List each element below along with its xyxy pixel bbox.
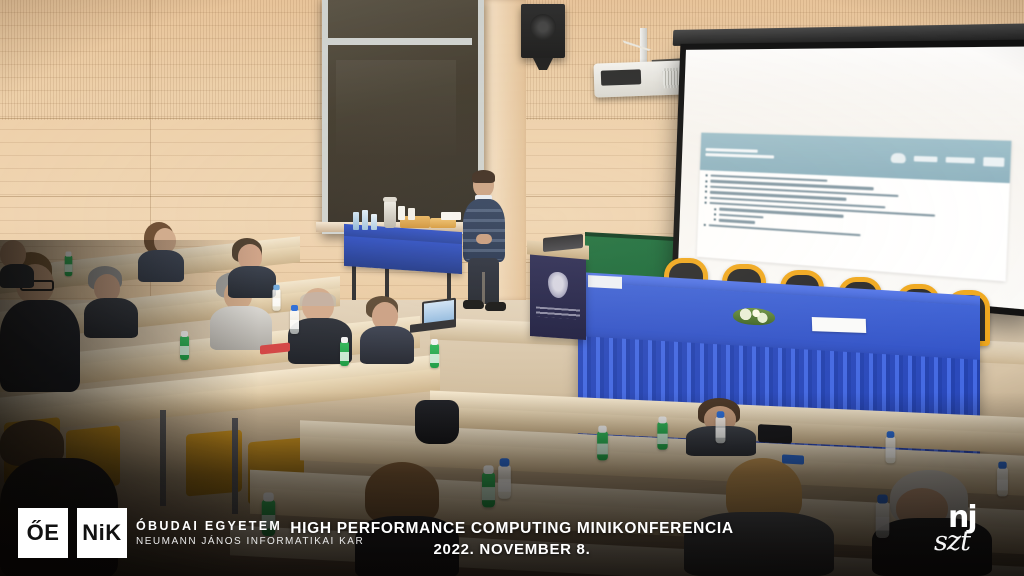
audience-torso <box>0 458 118 576</box>
audience-member <box>872 470 992 576</box>
water-bottle <box>498 465 511 499</box>
audience-member <box>228 238 278 294</box>
slide-title <box>705 147 774 158</box>
audience-torso <box>210 306 272 350</box>
slide-title-line <box>706 147 758 152</box>
sanitizer-bottle <box>657 422 667 450</box>
presenter-hair <box>472 170 495 183</box>
sanitizer-bottle <box>65 256 73 276</box>
audience-torso <box>872 518 992 576</box>
sanitizer-bottle <box>597 432 608 461</box>
presenter-shoe <box>463 300 484 309</box>
window-glass-reflection <box>336 60 456 160</box>
coffee-urn-lid <box>383 197 397 202</box>
audience-member <box>684 458 834 576</box>
refreshment-bottle <box>371 214 377 230</box>
audience-torso <box>228 266 276 298</box>
water-bottle <box>886 437 896 463</box>
audience-member <box>138 222 186 280</box>
audience-torso <box>360 326 414 364</box>
audience-torso <box>684 512 834 576</box>
audience-hair <box>300 292 336 306</box>
audience-torso <box>84 298 138 338</box>
head-table-document <box>588 275 622 289</box>
sanitizer-bottle <box>180 336 189 360</box>
audience-member <box>360 296 416 360</box>
audience-torso <box>355 516 459 576</box>
water-bottle <box>876 502 890 538</box>
window-mullion <box>322 38 472 45</box>
lecture-hall-photo: ŐE NiK ÓBUDAI EGYETEM NEUMANN JÁNOS INFO… <box>0 0 1024 576</box>
sanitizer-bottle <box>482 473 495 508</box>
loudspeaker-cone <box>530 14 556 40</box>
projector-control-panel <box>601 69 641 85</box>
presenter-sweater-stripes <box>463 202 505 260</box>
cup-stack <box>408 208 415 220</box>
slide-partner-logos <box>891 153 1005 167</box>
water-bottle <box>997 468 1008 497</box>
backpack <box>415 400 459 444</box>
presenter-leg-gap <box>482 272 485 304</box>
audience-hair <box>365 462 439 524</box>
seat-frame <box>160 410 166 506</box>
sanitizer-bottle <box>262 500 276 536</box>
seat-frame <box>232 418 238 514</box>
partner-logo-icon <box>983 157 1004 167</box>
audience-member <box>0 240 34 280</box>
audience-torso <box>0 264 34 288</box>
refreshment-bottle <box>353 212 359 230</box>
partner-logo-icon <box>914 156 938 162</box>
audience-member <box>0 420 120 576</box>
partner-logo-icon <box>946 157 975 164</box>
presenter-shoe <box>485 302 506 311</box>
water-bottle <box>290 310 299 334</box>
cup-stack <box>398 206 405 220</box>
presenter-hands <box>476 234 492 244</box>
phone <box>782 454 804 464</box>
water-bottle <box>716 417 726 443</box>
napkin-stack <box>441 212 461 220</box>
sanitizer-bottle <box>430 344 439 368</box>
cloud-logo-icon <box>891 153 906 163</box>
slide-title-line <box>705 153 774 159</box>
audience-member <box>84 266 140 334</box>
coffee-urn <box>384 200 396 228</box>
audience-member <box>355 462 459 576</box>
audience-torso <box>0 300 80 392</box>
water-bottle <box>272 289 280 311</box>
audience-torso <box>138 250 184 282</box>
slide-bullet-list <box>698 170 1010 250</box>
camera-equipment <box>758 424 792 444</box>
head-table-document <box>812 317 866 333</box>
presentation-slide <box>697 133 1012 282</box>
presenter <box>455 172 511 312</box>
sanitizer-bottle <box>340 342 349 366</box>
refreshment-bottle <box>362 210 368 230</box>
